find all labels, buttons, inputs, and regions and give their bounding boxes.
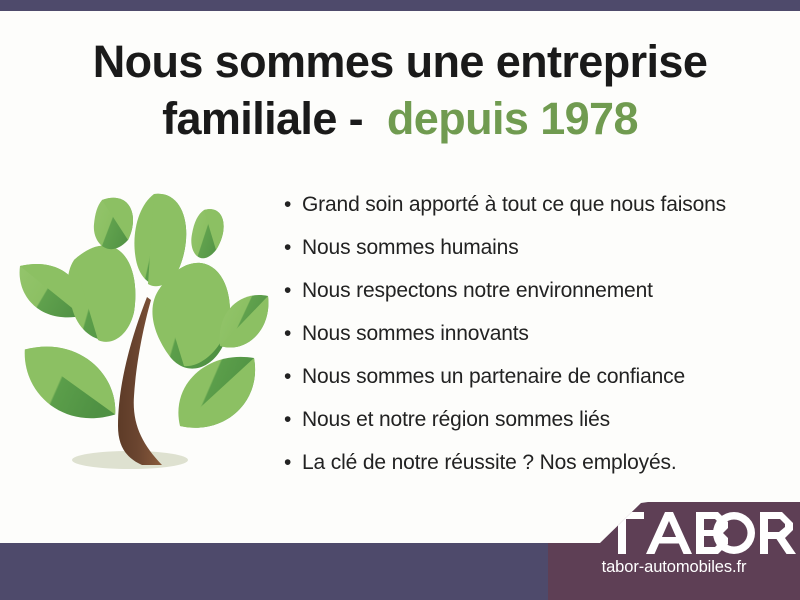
list-item-label: Grand soin apporté à tout ce que nous fa…	[302, 190, 726, 219]
bullet-marker-icon: •	[284, 319, 302, 348]
tree-leaf-top-small-left	[94, 198, 133, 249]
title-line-2: familiale - depuis 1978	[0, 90, 800, 147]
brand-logo-panel[interactable]: tabor-automobiles.fr	[548, 502, 800, 600]
list-item-label: La clé de notre réussite ? Nos employés.	[302, 448, 677, 477]
list-item: • Nous sommes humains	[284, 233, 784, 276]
list-item-label: Nous et notre région sommes liés	[302, 405, 610, 434]
list-item-label: Nous sommes un partenaire de confiance	[302, 362, 685, 391]
value-list: • Grand soin apporté à tout ce que nous …	[284, 190, 784, 491]
brand-url-label: tabor-automobiles.fr	[548, 558, 800, 577]
tree-leaf-lower-left	[24, 344, 115, 420]
title-line-2-accent: depuis 1978	[387, 93, 638, 144]
page-title: Nous sommes une entreprise familiale - d…	[0, 33, 800, 147]
tree-leaf-top-small-right	[191, 209, 223, 258]
list-item-label: Nous sommes innovants	[302, 319, 529, 348]
tree-illustration	[18, 188, 270, 488]
list-item-label: Nous respectons notre environnement	[302, 276, 653, 305]
list-item: • Nous et notre région sommes liés	[284, 405, 784, 448]
list-item: • Nous sommes un partenaire de confiance	[284, 362, 784, 405]
bullet-marker-icon: •	[284, 190, 302, 219]
list-item: • La clé de notre réussite ? Nos employé…	[284, 448, 784, 491]
bullet-marker-icon: •	[284, 448, 302, 477]
tree-leaf-upper-left	[68, 245, 136, 341]
top-accent-bar	[0, 0, 800, 11]
bullet-marker-icon: •	[284, 233, 302, 262]
list-item: • Nous sommes innovants	[284, 319, 784, 362]
list-item-label: Nous sommes humains	[302, 233, 519, 262]
bullet-marker-icon: •	[284, 276, 302, 305]
list-item: • Nous respectons notre environnement	[284, 276, 784, 319]
bullet-marker-icon: •	[284, 362, 302, 391]
title-line-1: Nous sommes une entreprise	[0, 33, 800, 90]
bullet-marker-icon: •	[284, 405, 302, 434]
slide-canvas: Nous sommes une entreprise familiale - d…	[0, 0, 800, 600]
title-line-2-plain: familiale -	[162, 93, 363, 144]
list-item: • Grand soin apporté à tout ce que nous …	[284, 190, 784, 233]
tabor-wordmark-logo	[600, 510, 796, 556]
